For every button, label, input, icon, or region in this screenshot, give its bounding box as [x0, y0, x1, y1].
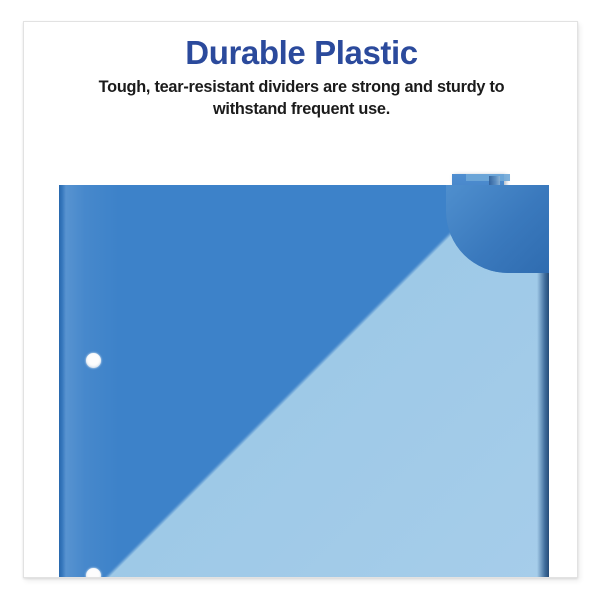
- product-photo: [24, 140, 578, 578]
- tab-blue-top-edge: [466, 174, 510, 181]
- bottom-binder-hole: [86, 568, 101, 578]
- page-title: Durable Plastic: [24, 34, 578, 72]
- page-subtitle: Tough, tear-resistant dividers are stron…: [62, 77, 542, 120]
- headline-block: Durable Plastic Tough, tear-resistant di…: [24, 34, 578, 120]
- product-feature-card: Durable Plastic Tough, tear-resistant di…: [0, 0, 600, 600]
- top-binder-hole: [86, 353, 101, 368]
- divider-sheet: [59, 185, 549, 578]
- card-frame: Durable Plastic Tough, tear-resistant di…: [23, 21, 578, 578]
- sheet-left-edge: [59, 185, 66, 578]
